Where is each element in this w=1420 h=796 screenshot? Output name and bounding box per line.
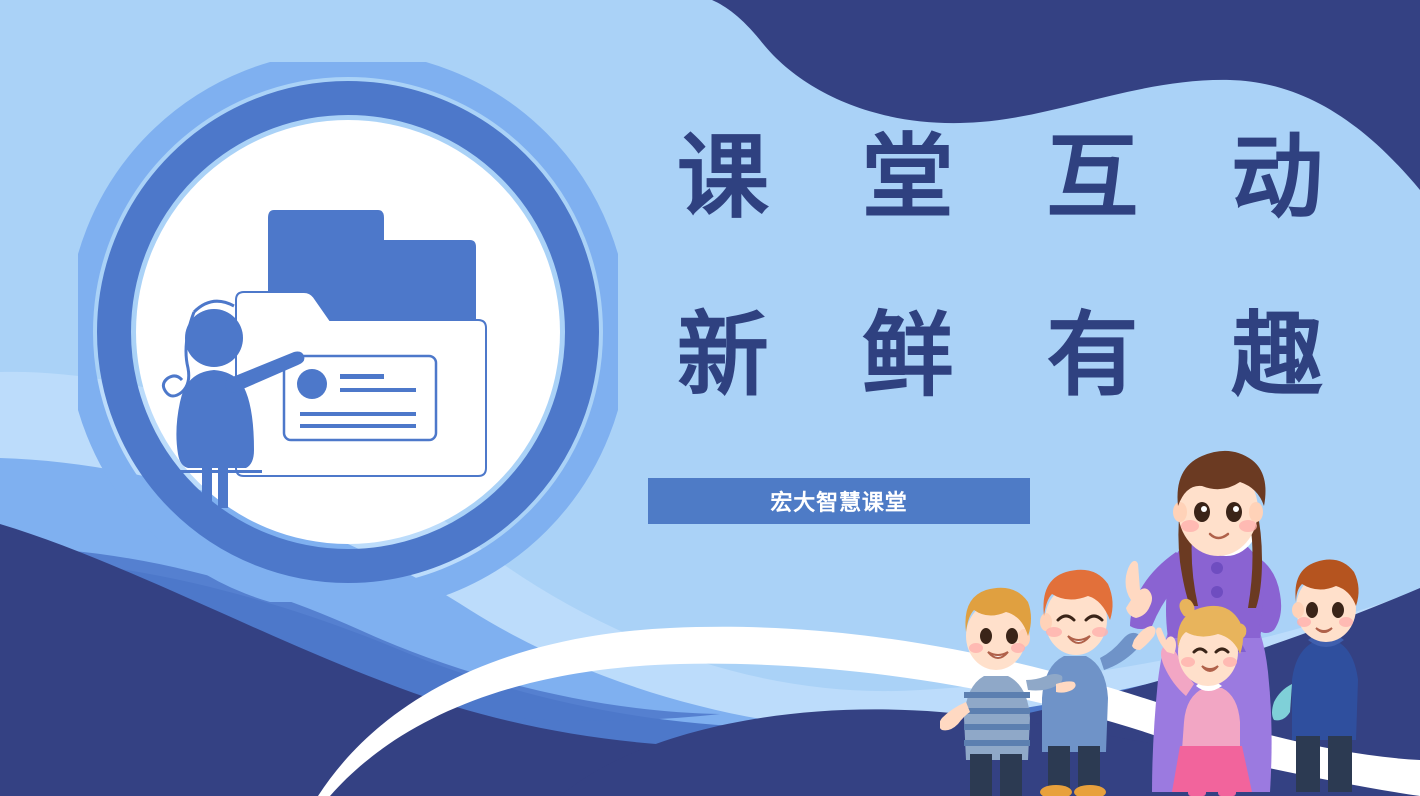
emblem-graphic: [78, 62, 618, 602]
id-card-avatar-icon: [297, 369, 327, 399]
child1-stripe-4: [964, 740, 1030, 746]
teacher-and-children-illustration: [940, 440, 1420, 796]
child1-cheek-left: [969, 643, 983, 653]
child2-cheek-right: [1092, 627, 1108, 637]
teacher-head-icon: [185, 309, 243, 367]
child1-shirt-icon: [964, 676, 1030, 760]
child4-leg-left-icon: [1296, 736, 1320, 792]
teacher-ear-left-icon: [1173, 502, 1187, 522]
id-card-line-1: [340, 374, 384, 379]
child3-cheek-right: [1223, 657, 1237, 667]
child4-eye-right-icon: [1332, 602, 1344, 618]
child4-sleeve-icon: [1272, 684, 1292, 720]
child1-leg-right-icon: [1000, 754, 1022, 796]
child4-cheek-left: [1297, 617, 1311, 627]
teacher-eye-right-icon: [1226, 502, 1242, 522]
child2-arm-icon: [1100, 633, 1141, 670]
child2-cheek-left: [1046, 627, 1062, 637]
page-title-line-2: 新 鲜 有 趣: [645, 310, 1355, 402]
teacher-eye-right-glint: [1233, 506, 1239, 512]
teacher-button-2: [1211, 586, 1223, 598]
child1-stripe-2: [964, 708, 1030, 714]
child4-eye-left-icon: [1306, 602, 1318, 618]
child-brown-hair-hoodie: [1272, 560, 1359, 792]
teacher-eye-left-icon: [1194, 502, 1210, 522]
child4-hoodie-icon: [1292, 640, 1358, 740]
teacher-ear-right-icon: [1249, 502, 1263, 522]
title-block: 课 堂 互 动 新 鲜 有 趣: [645, 132, 1355, 402]
child3-cheek-left: [1181, 657, 1195, 667]
child4-cheek-right: [1339, 617, 1353, 627]
people-graphic: [940, 440, 1420, 796]
id-card-line-2: [340, 388, 416, 392]
page-title-line-1: 课 堂 互 动: [645, 132, 1355, 224]
teacher-leg-left-icon: [202, 462, 212, 508]
teacher-leg-right-icon: [218, 462, 228, 508]
id-card-line-3: [300, 412, 416, 416]
subtitle-text: 宏大智慧课堂: [770, 485, 907, 517]
child1-eye-right-icon: [1006, 628, 1018, 644]
child1-cheek-right: [1011, 643, 1025, 653]
teacher-eye-left-glint: [1201, 506, 1207, 512]
child1-stripe-3: [964, 724, 1030, 730]
child1-leg-left-icon: [970, 754, 992, 796]
id-card-line-4: [300, 424, 416, 428]
child2-hand-icon: [1132, 626, 1156, 650]
child3-shoe-left-icon: [1188, 788, 1206, 796]
teacher-button-1: [1211, 562, 1223, 574]
child2-shirt-icon: [1042, 656, 1108, 752]
teacher-cheek-left: [1181, 520, 1199, 532]
child1-stripe-1: [964, 692, 1030, 698]
child4-ear-icon: [1292, 602, 1304, 618]
child3-shoe-right-icon: [1218, 788, 1236, 796]
child4-leg-right-icon: [1328, 736, 1352, 792]
child3-skirt-icon: [1172, 746, 1252, 792]
presentation-slide: 课 堂 互 动 新 鲜 有 趣 宏大智慧课堂: [0, 0, 1420, 796]
teacher-cheek-right: [1239, 520, 1257, 532]
child1-eye-left-icon: [980, 628, 992, 644]
emblem-floor-line: [166, 470, 262, 473]
emblem-circle: [78, 62, 618, 602]
